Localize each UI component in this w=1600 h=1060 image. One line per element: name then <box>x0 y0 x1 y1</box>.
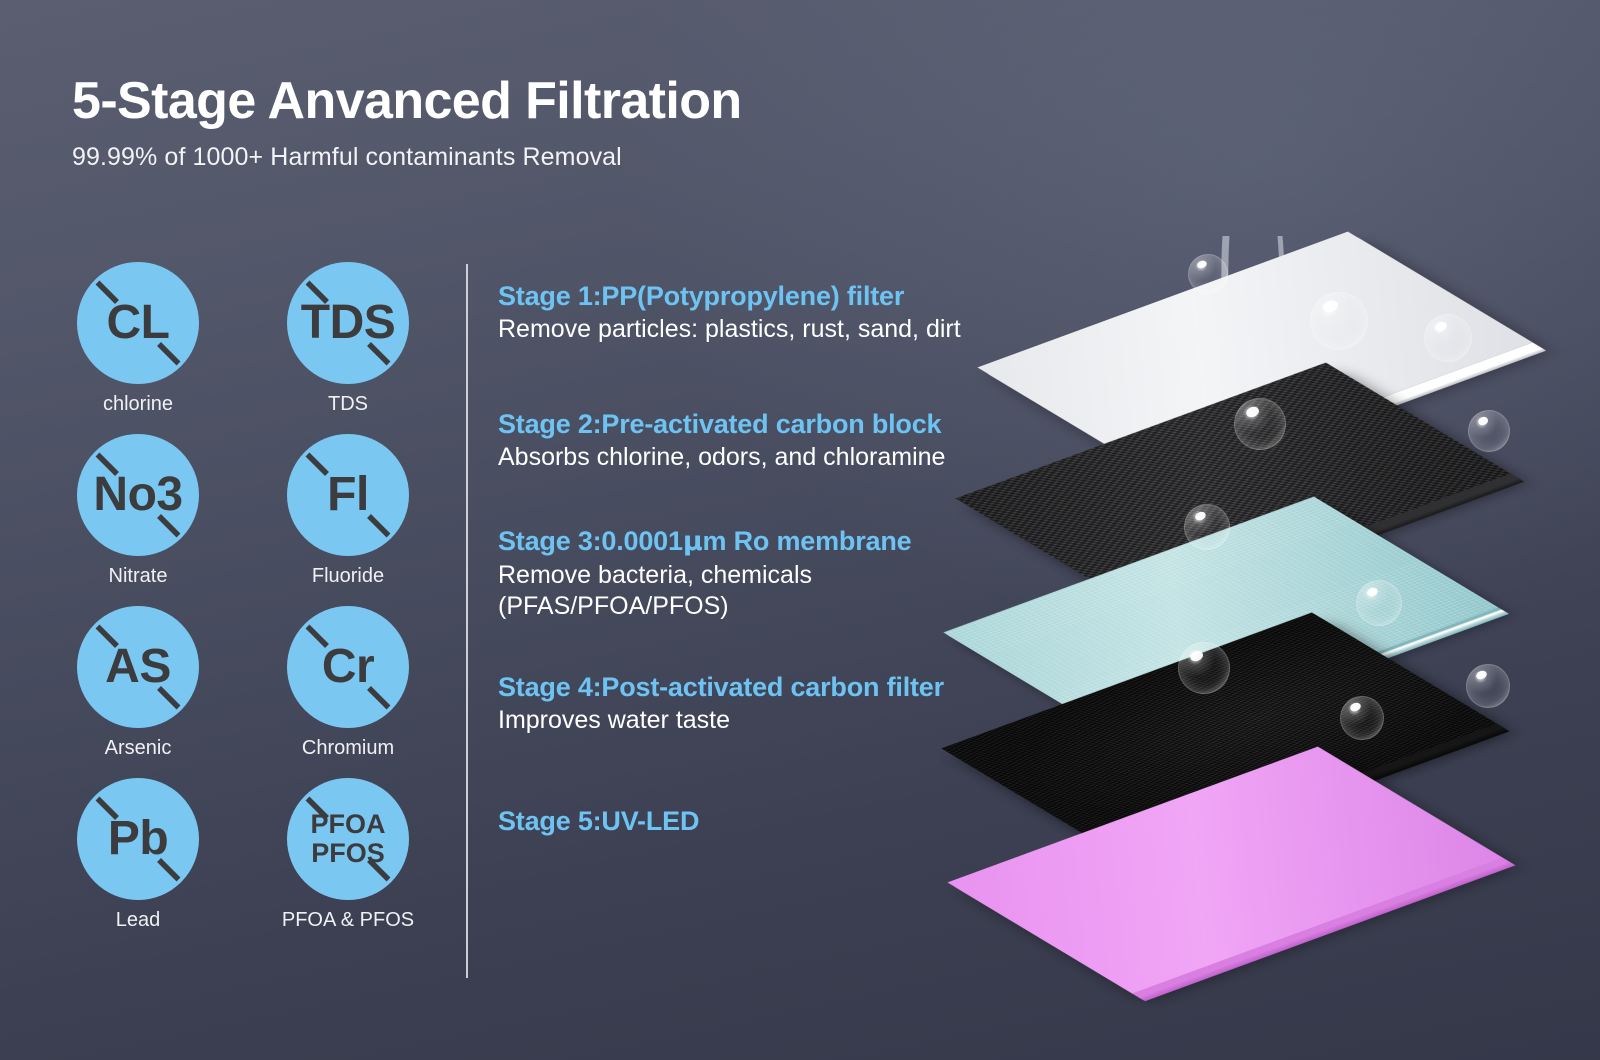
contaminant-item-pfoa-pfos: PFOA PFOS PFOA & PFOS <box>272 778 424 932</box>
contaminant-symbol-line2: PFOS <box>311 838 385 868</box>
contaminant-symbol: Pb <box>108 815 168 862</box>
page-title: 5-Stage Anvanced Filtration <box>72 74 1072 129</box>
contaminant-label: chlorine <box>103 393 173 416</box>
contaminant-label: Lead <box>116 909 161 932</box>
no-lead-icon: Pb <box>77 778 199 900</box>
no-fluoride-icon: Fl <box>287 434 409 556</box>
no-pfoa-pfos-icon: PFOA PFOS <box>287 778 409 900</box>
stage-description: Remove particles: plastics, rust, sand, … <box>498 314 961 345</box>
stage-title-post: m Ro membrane <box>703 526 912 556</box>
stage-title: Stage 4:Post-activated carbon filter <box>498 671 944 703</box>
contaminant-symbol: Fl <box>327 471 369 518</box>
uv-led-layer <box>990 720 1460 1020</box>
contaminant-label: Fluoride <box>312 565 384 588</box>
filter-layer-stack <box>980 0 1600 1060</box>
contaminant-symbol: AS <box>105 643 171 690</box>
stage-description-line1: Improves water taste <box>498 706 730 734</box>
stage-item-3: Stage 3:0.0001μm Ro membrane Remove bact… <box>498 525 911 621</box>
contaminant-grid: CL chlorine TDS TDS <box>62 262 452 932</box>
header: 5-Stage Anvanced Filtration 99.99% of 10… <box>72 74 1072 172</box>
stage-description: Absorbs chlorine, odors, and chloramine <box>498 442 945 473</box>
contaminant-item-chromium: Cr Chromium <box>272 606 424 760</box>
stage-description-line1: Remove particles: plastics, rust, sand, … <box>498 315 961 343</box>
stage-title: Stage 1:PP(Potypropylene) filter <box>498 280 961 312</box>
stage-description: Remove bacteria, chemicals (PFAS/PFOA/PF… <box>498 560 911 621</box>
no-nitrate-icon: No3 <box>77 434 199 556</box>
stage-title: Stage 5:UV-LED <box>498 805 699 837</box>
page-subtitle: 99.99% of 1000+ Harmful contaminants Rem… <box>72 143 1072 172</box>
contaminant-item-nitrate: No3 Nitrate <box>62 434 214 588</box>
stage-title: Stage 3:0.0001μm Ro membrane <box>498 525 911 558</box>
contaminant-symbol: CL <box>107 299 170 346</box>
stage-title-pre: Stage 3:0.0001 <box>498 526 683 556</box>
contaminant-label: Arsenic <box>105 737 172 760</box>
stage-description: Improves water taste <box>498 705 944 736</box>
stage-description-line2: (PFAS/PFOA/PFOS) <box>498 591 911 622</box>
contaminant-symbol: No3 <box>93 471 182 518</box>
stage-item-4: Stage 4:Post-activated carbon filter Imp… <box>498 671 944 736</box>
contaminant-symbol: TDS <box>301 299 396 346</box>
stage-title: Stage 2:Pre-activated carbon block <box>498 408 945 440</box>
contaminant-symbol: Cr <box>322 643 374 690</box>
no-chromium-icon: Cr <box>287 606 409 728</box>
stage-description-line1: Absorbs chlorine, odors, and chloramine <box>498 443 945 471</box>
filtration-infographic: 5-Stage Anvanced Filtration 99.99% of 10… <box>0 0 1600 1060</box>
contaminant-symbol: PFOA PFOS <box>310 810 385 867</box>
stage-description-line1: Remove bacteria, chemicals <box>498 561 812 589</box>
no-chlorine-icon: CL <box>77 262 199 384</box>
stage-item-2: Stage 2:Pre-activated carbon block Absor… <box>498 408 945 473</box>
bubble <box>1466 664 1510 708</box>
contaminant-item-fluoride: Fl Fluoride <box>272 434 424 588</box>
contaminant-item-chlorine: CL chlorine <box>62 262 214 416</box>
contaminant-label: Chromium <box>302 737 394 760</box>
micro-symbol: μ <box>683 526 703 557</box>
contaminant-label: Nitrate <box>109 565 168 588</box>
contaminant-item-lead: Pb Lead <box>62 778 214 932</box>
contaminant-label: PFOA & PFOS <box>282 909 414 932</box>
contaminant-label: TDS <box>328 393 368 416</box>
contaminant-item-tds: TDS TDS <box>272 262 424 416</box>
contaminant-symbol-line1: PFOA <box>310 809 385 839</box>
contaminant-item-arsenic: AS Arsenic <box>62 606 214 760</box>
stage-item-5: Stage 5:UV-LED <box>498 805 699 837</box>
stage-item-1: Stage 1:PP(Potypropylene) filter Remove … <box>498 280 961 345</box>
vertical-divider <box>466 264 468 978</box>
no-tds-icon: TDS <box>287 262 409 384</box>
no-arsenic-icon: AS <box>77 606 199 728</box>
